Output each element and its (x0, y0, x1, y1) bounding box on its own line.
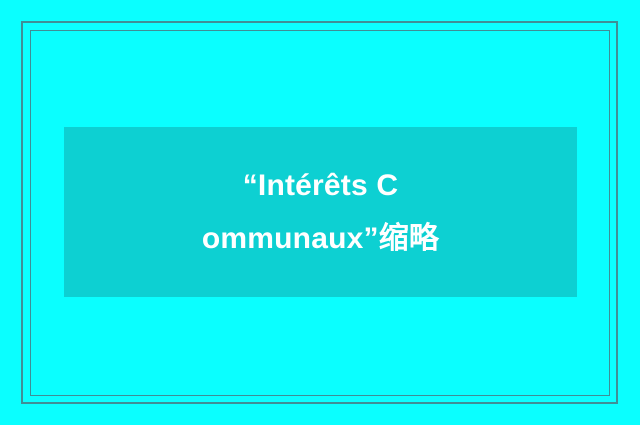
screenshot-canvas: “Intérêts C ommunaux”缩略 (0, 0, 640, 425)
caption-text: “Intérêts C ommunaux”缩略 (64, 159, 577, 265)
caption-panel: “Intérêts C ommunaux”缩略 (64, 127, 577, 297)
